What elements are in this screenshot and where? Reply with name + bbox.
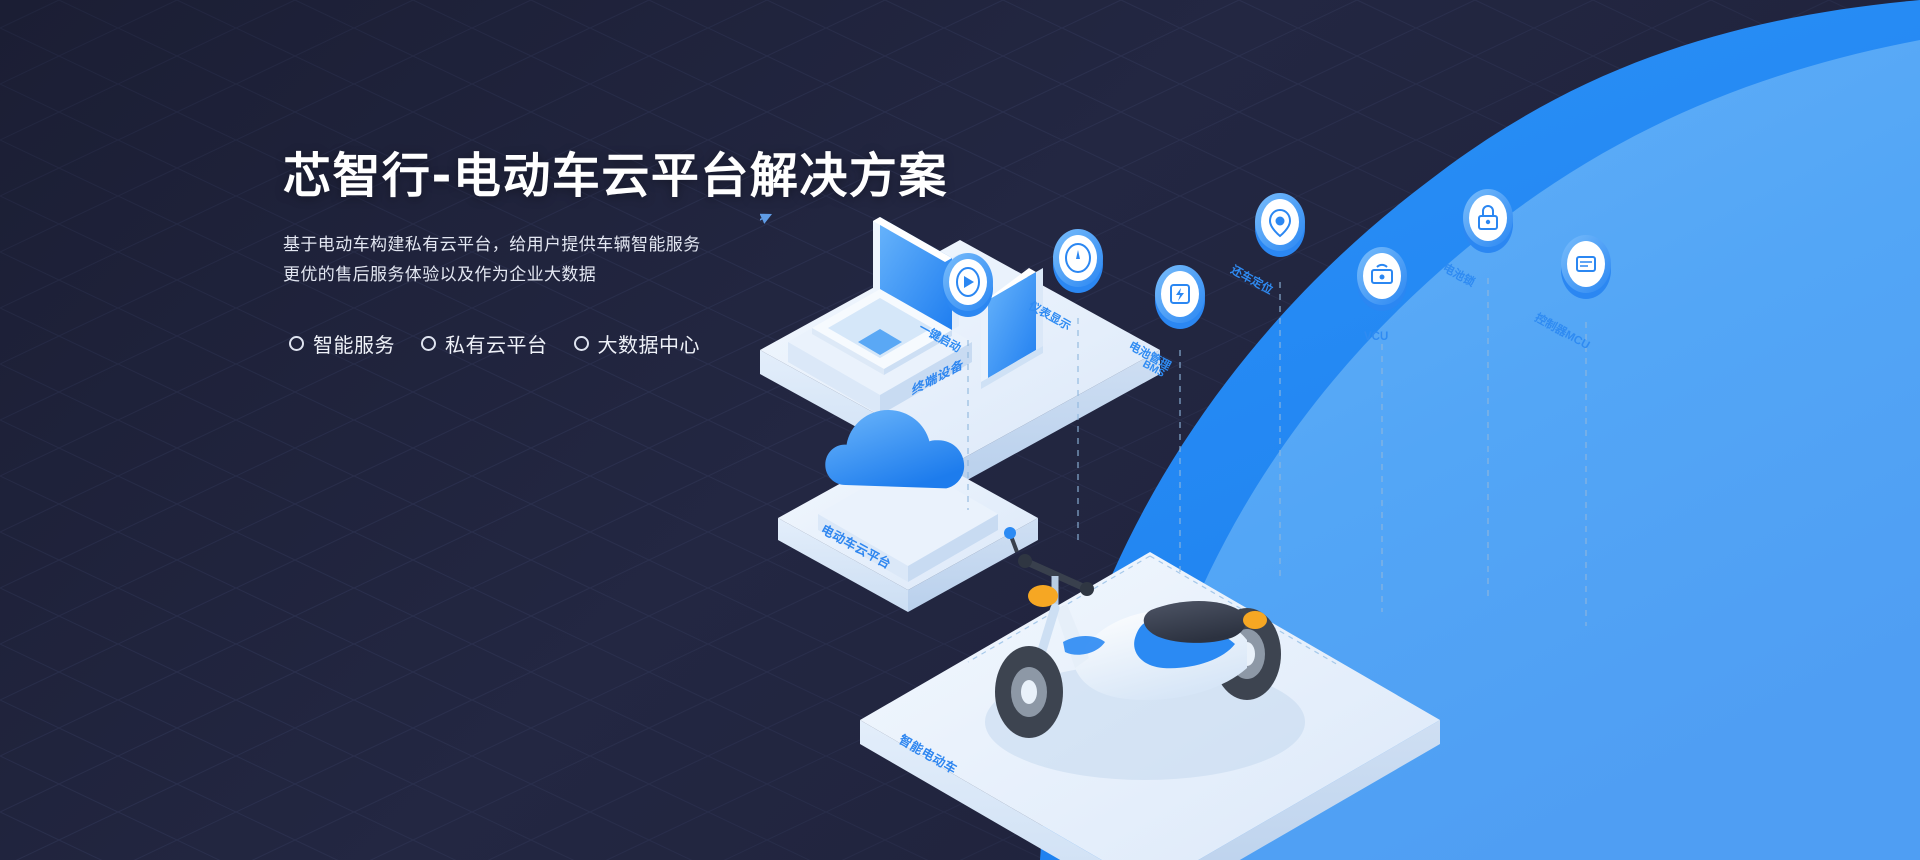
hero-subtitle-line-1: 基于电动车构建私有云平台，给用户提供车辆智能服务 xyxy=(283,235,701,254)
badge-label: 还车定位 xyxy=(1228,262,1276,297)
feature-item-smart-service[interactable]: 智能服务 xyxy=(289,329,395,358)
ring-bullet-icon xyxy=(574,336,589,351)
badge-battery-lock[interactable]: 电池锁 xyxy=(1441,189,1513,290)
feature-item-big-data[interactable]: 大数据中心 xyxy=(574,329,701,358)
front-wheel xyxy=(995,646,1063,738)
badge-return-location[interactable]: 还车定位 xyxy=(1228,193,1305,297)
badge-vcu[interactable]: VCU xyxy=(1357,247,1407,343)
badge-label: VCU xyxy=(1364,331,1388,343)
feature-label: 大数据中心 xyxy=(598,329,701,358)
feature-item-private-cloud[interactable]: 私有云平台 xyxy=(421,329,548,358)
ring-bullet-icon xyxy=(289,336,304,351)
ring-bullet-icon xyxy=(421,336,436,351)
hero-subtitle-line-2: 更优的售后服务体验以及作为企业大数据 xyxy=(283,265,596,284)
badge-mcu-controller[interactable]: 控制器MCU xyxy=(1533,235,1611,352)
isometric-illustration: 终端设备 电动车云平台 xyxy=(760,150,1920,860)
feature-label: 私有云平台 xyxy=(445,329,548,358)
hero-banner: 芯智行-电动车云平台解决方案 基于电动车构建私有云平台，给用户提供车辆智能服务 … xyxy=(0,0,1920,860)
badge-label: 控制器MCU xyxy=(1533,310,1593,352)
badge-label: 电池锁 xyxy=(1441,260,1478,289)
feature-label: 智能服务 xyxy=(313,329,395,358)
